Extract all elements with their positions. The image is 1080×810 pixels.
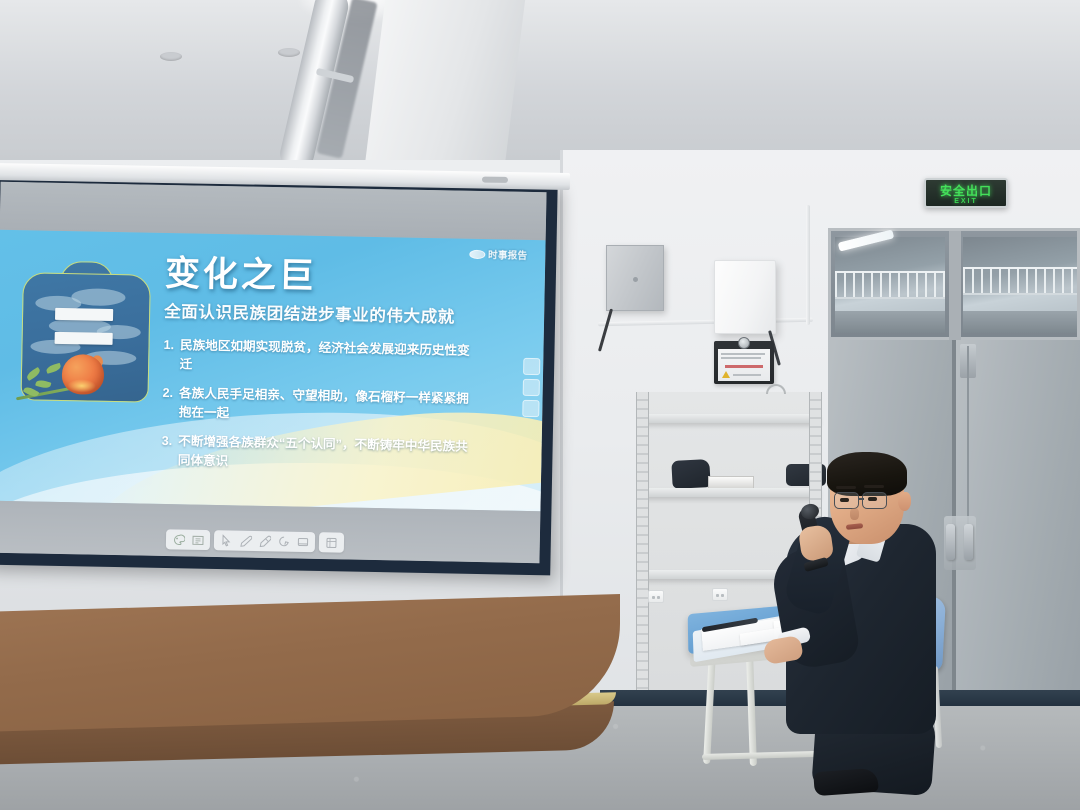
presentation-slide[interactable]: 时事报告 [0, 230, 546, 511]
section-number-bar [55, 332, 113, 345]
speaker-hair [827, 452, 907, 496]
bullet-number: 2. [162, 384, 173, 423]
plate-text-line [733, 374, 761, 376]
speaker-eyebrow [864, 485, 884, 488]
slide-bullet-item: 2. 各族人民手足相亲、守望相助，像石榴籽一样紧紧拥抱在一起 [162, 384, 509, 430]
shelf-board [642, 414, 820, 423]
wall-conduit-vertical [806, 205, 810, 325]
palette-icon[interactable] [170, 531, 187, 547]
shelf-bag [671, 459, 710, 489]
exit-sign: 安全出口 EXIT [924, 178, 1008, 208]
slide-side-chip-2[interactable] [523, 379, 540, 396]
shelf-upright-left [636, 392, 649, 692]
transom-pane-left [835, 237, 945, 333]
toolbar-group-tools[interactable] [214, 530, 315, 552]
ceiling-duct-panel [364, 0, 525, 170]
slide-bullet-item: 3. 不断增强各族群众“五个认同”，不断铸牢中华民族共同体意识 [161, 432, 508, 478]
panel-frame [20, 272, 150, 402]
slide-side-chip-3[interactable] [522, 400, 539, 417]
whiteboard-toolbar[interactable] [166, 529, 344, 552]
toolbar-group-right[interactable] [319, 532, 344, 552]
warning-triangle-icon [722, 371, 730, 378]
bullet-number: 3. [161, 432, 172, 471]
apps-icon[interactable] [323, 534, 340, 550]
screen-rail-knob [482, 177, 508, 183]
projection-surface: 时事报告 [0, 182, 547, 563]
wall-electrical-box [606, 245, 664, 311]
bullet-number: 1. [163, 336, 174, 375]
leaf-icon [35, 379, 51, 390]
bullet-text: 各族人民手足相亲、守望相助，像石榴籽一样紧紧拥抱在一起 [179, 384, 480, 429]
menu-icon[interactable] [189, 532, 206, 548]
slide-bullet-list: 1. 民族地区如期实现脱贫，经济社会发展迎来历史性变迁 2. 各族人民手足相亲、… [161, 336, 510, 478]
speaker-ear [898, 492, 911, 511]
balcony-wall [835, 311, 945, 333]
wooden-platform [0, 594, 620, 732]
gauge-icon [738, 337, 750, 349]
plate-text-line [721, 357, 761, 359]
slide-text-block: 变化之巨 全面认识民族团结进步事业的伟大成就 1. 民族地区如期实现脱贫，经济社… [161, 255, 511, 486]
toolbar-group-left[interactable] [166, 529, 210, 550]
speaker-eye [840, 498, 849, 502]
plate-text-line [721, 353, 765, 355]
bullet-text: 不断增强各族群众“五个认同”，不断铸牢中华民族共同体意识 [178, 432, 479, 477]
desk-leg [703, 652, 716, 764]
highlighter-icon[interactable] [256, 533, 273, 549]
electrical-warning-plate [714, 341, 774, 384]
slide-bullet-item: 1. 民族地区如期实现脱贫，经济社会发展迎来历史性变迁 [163, 336, 510, 382]
glasses-bridge [859, 498, 864, 500]
transom-mullion [949, 231, 961, 343]
glasses-lens-right [862, 492, 887, 509]
slide-subtitle: 全面认识民族团结进步事业的伟大成就 [164, 298, 510, 329]
speaker-nose [850, 508, 859, 520]
section-number-bar [55, 308, 113, 321]
speaker-eyebrow [836, 486, 856, 489]
wall-outlet[interactable] [648, 590, 664, 603]
slide-side-chip-1[interactable] [523, 358, 540, 375]
projector-screen[interactable]: 时事报告 [0, 173, 558, 576]
exit-sign-label-en: EXIT [954, 198, 978, 205]
slide-logo: 时事报告 [469, 247, 527, 262]
leaf-icon [45, 363, 61, 374]
bullet-text: 民族地区如期实现脱贫，经济社会发展迎来历史性变迁 [179, 336, 480, 381]
exit-sign-label-cn: 安全出口 [940, 182, 992, 199]
speaker-eye [868, 497, 877, 501]
seated-speaker [756, 452, 986, 792]
warning-plate-face [718, 349, 770, 381]
pomegranate-highlight [68, 379, 96, 393]
ceiling-sensor-icon [160, 52, 182, 61]
slide-title: 变化之巨 [165, 255, 512, 299]
slide-side-toolbar[interactable] [522, 358, 540, 417]
classroom-photo-scene: 安全出口 EXIT [0, 0, 1080, 810]
balcony-railing [835, 271, 945, 299]
pen-icon[interactable] [237, 533, 254, 549]
eraser-icon[interactable] [275, 533, 292, 549]
slide-logo-label: 时事报告 [488, 247, 527, 262]
plate-warning-text [725, 365, 763, 368]
cursor-icon[interactable] [218, 532, 235, 548]
shape-icon[interactable] [294, 534, 311, 550]
logo-mark-icon [469, 249, 485, 258]
slide-decorative-panel [20, 272, 150, 402]
transom-pane-right [963, 237, 1077, 333]
balcony-railing [963, 267, 1077, 295]
ceiling-sensor-icon [278, 48, 300, 57]
wall-distribution-box [714, 260, 776, 334]
speaker-shoe [813, 768, 879, 796]
balcony-wall [963, 311, 1077, 333]
leaf-icon [25, 367, 41, 381]
